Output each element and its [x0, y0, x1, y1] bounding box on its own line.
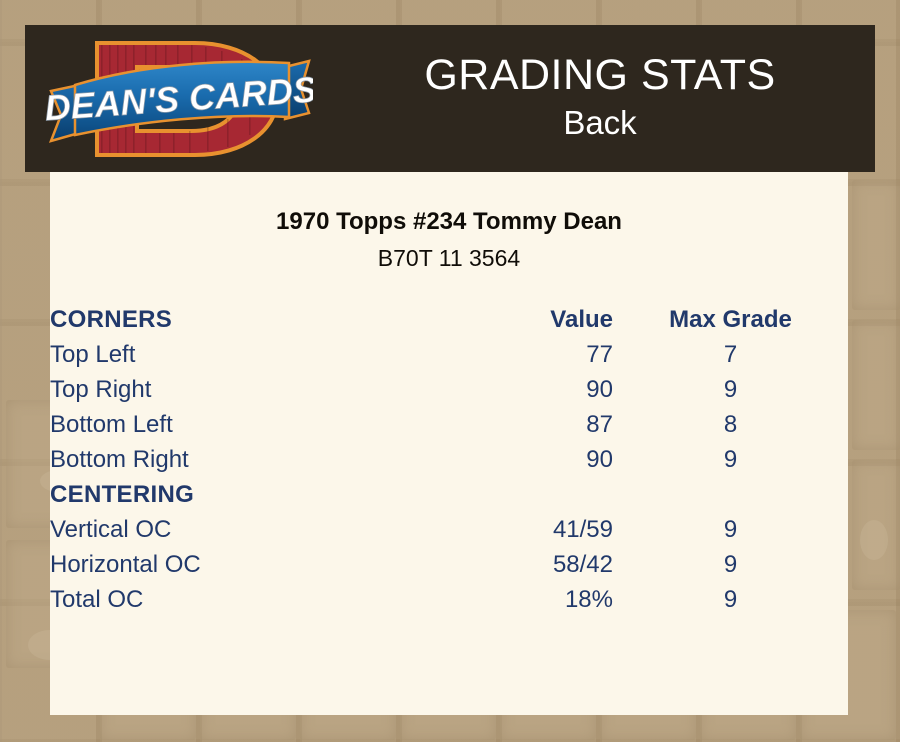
- row-max-grade: 9: [635, 582, 848, 617]
- deans-cards-logo[interactable]: DEAN'S CARDS: [45, 29, 313, 169]
- table-row: Horizontal OC 58/42 9: [50, 547, 848, 582]
- page-title: GRADING STATS: [424, 53, 775, 98]
- grading-stats-table: CORNERS Value Max Grade Top Left 77 7 To…: [50, 302, 848, 617]
- row-max-grade: 8: [635, 407, 848, 442]
- section-title-centering: CENTERING: [50, 477, 450, 512]
- row-value: 90: [450, 442, 635, 477]
- row-value: 90: [450, 372, 635, 407]
- section-grade-spacer: [635, 477, 848, 512]
- header-bar: DEAN'S CARDS GRADING STATS Back: [25, 25, 875, 172]
- row-max-grade: 9: [635, 547, 848, 582]
- row-label: Top Right: [50, 372, 450, 407]
- column-header-value: Value: [450, 302, 635, 337]
- row-label: Vertical OC: [50, 512, 450, 547]
- section-title-corners: CORNERS: [50, 302, 450, 337]
- row-max-grade: 9: [635, 442, 848, 477]
- column-header-max-grade: Max Grade: [635, 302, 848, 337]
- section-value-spacer: [450, 477, 635, 512]
- row-label: Total OC: [50, 582, 450, 617]
- row-value: 77: [450, 337, 635, 372]
- page-subtitle: Back: [563, 102, 636, 143]
- table-row: Total OC 18% 9: [50, 582, 848, 617]
- table-row: Bottom Left 87 8: [50, 407, 848, 442]
- row-value: 58/42: [450, 547, 635, 582]
- row-label: Top Left: [50, 337, 450, 372]
- table-row: Vertical OC 41/59 9: [50, 512, 848, 547]
- table-row: Bottom Right 90 9: [50, 442, 848, 477]
- row-max-grade: 7: [635, 337, 848, 372]
- row-value: 41/59: [450, 512, 635, 547]
- card-serial-number: B70T 11 3564: [50, 245, 848, 272]
- card-title: 1970 Topps #234 Tommy Dean: [50, 208, 848, 236]
- row-label: Horizontal OC: [50, 547, 450, 582]
- row-label: Bottom Right: [50, 442, 450, 477]
- row-max-grade: 9: [635, 372, 848, 407]
- row-max-grade: 9: [635, 512, 848, 547]
- content-panel: 1970 Topps #234 Tommy Dean B70T 11 3564 …: [50, 172, 848, 715]
- table-row: Top Left 77 7: [50, 337, 848, 372]
- row-label: Bottom Left: [50, 407, 450, 442]
- row-value: 18%: [450, 582, 635, 617]
- header-title-group: GRADING STATS Back: [325, 25, 875, 172]
- section-header-centering: CENTERING: [50, 477, 848, 512]
- row-value: 87: [450, 407, 635, 442]
- section-header-corners: CORNERS Value Max Grade: [50, 302, 848, 337]
- table-row: Top Right 90 9: [50, 372, 848, 407]
